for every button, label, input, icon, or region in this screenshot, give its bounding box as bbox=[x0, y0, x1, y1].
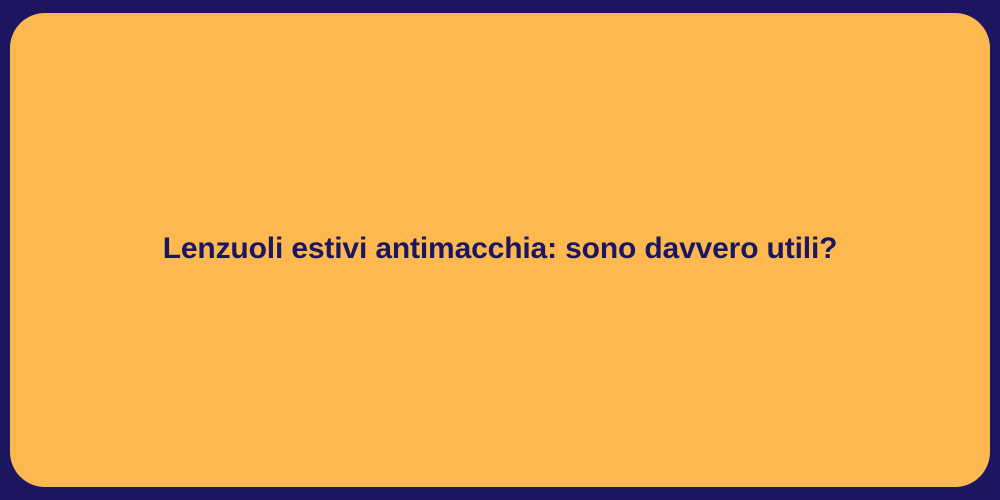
headline-block: Lenzuoli estivi antimacchia: sono davver… bbox=[10, 231, 990, 267]
card-frame: Lenzuoli estivi antimacchia: sono davver… bbox=[0, 0, 1000, 500]
headline-title: Lenzuoli estivi antimacchia: sono davver… bbox=[50, 231, 950, 267]
card-panel: Lenzuoli estivi antimacchia: sono davver… bbox=[10, 13, 990, 487]
